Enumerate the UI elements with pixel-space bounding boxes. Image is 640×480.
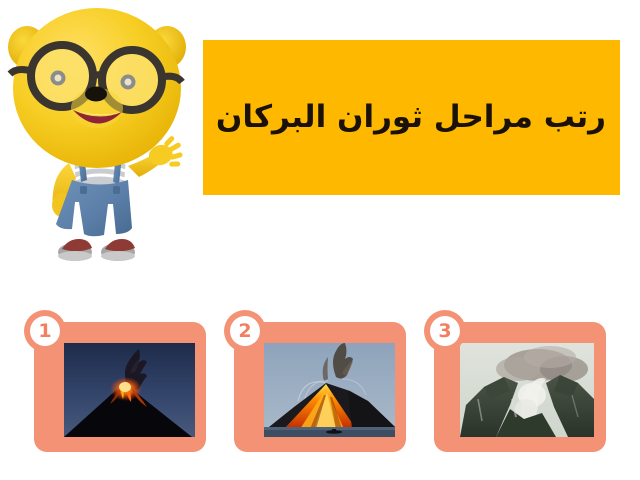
bear-shoe-right (101, 239, 135, 261)
ordering-cards-row: 1 (0, 316, 640, 461)
mascot-bear (0, 0, 200, 272)
bear-nose (85, 87, 107, 102)
bear-shoe-left (58, 239, 92, 261)
card-2[interactable]: 2 (234, 322, 406, 452)
card-3[interactable]: 3 (434, 322, 606, 452)
page-title: رتب مراحل ثوران البركان (216, 98, 606, 137)
title-banner: رتب مراحل ثوران البركان (203, 40, 620, 195)
badge-1: 1 (24, 310, 66, 352)
badge-2-number: 2 (230, 316, 260, 346)
activity-screen: رتب مراحل ثوران البركان (0, 0, 640, 480)
volcano-image-3[interactable] (460, 343, 594, 437)
badge-3-number: 3 (430, 316, 460, 346)
badge-3: 3 (424, 310, 466, 352)
badge-2: 2 (224, 310, 266, 352)
volcano-image-1[interactable] (64, 343, 195, 437)
badge-1-number: 1 (30, 316, 60, 346)
volcano-image-2[interactable] (264, 343, 395, 437)
card-1[interactable]: 1 (34, 322, 206, 452)
